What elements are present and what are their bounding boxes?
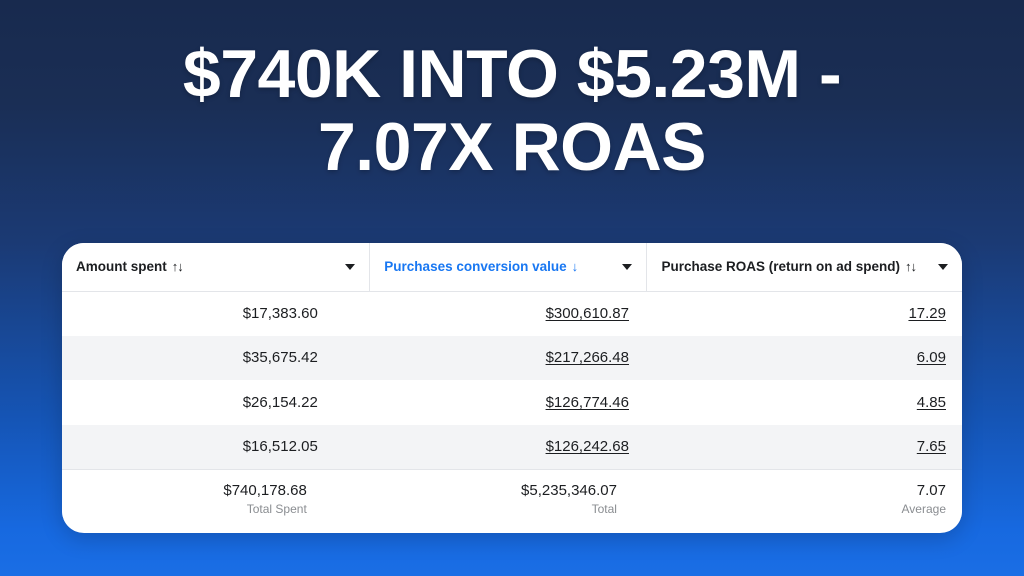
cell-conversion-value[interactable]: $126,242.68	[370, 425, 647, 470]
chevron-down-icon[interactable]	[938, 264, 948, 270]
table-footer: $740,178.68 Total Spent $5,235,346.07 To…	[62, 469, 962, 531]
column-header-purchases-conversion-value-label: Purchases conversion value	[384, 259, 566, 274]
total-conversion-value-value: $5,235,346.07	[384, 481, 617, 501]
slide-canvas: $740K INTO $5.23M - 7.07X ROAS Amount sp…	[0, 0, 1024, 576]
cell-amount-spent: $16,512.05	[62, 425, 370, 470]
cell-amount-spent: $35,675.42	[62, 336, 370, 381]
ads-metrics-table: Amount spent ↑↓ Purchases conversion val…	[62, 243, 962, 531]
cell-conversion-value[interactable]: $126,774.46	[370, 380, 647, 425]
column-header-purchase-roas-label: Purchase ROAS (return on ad spend)	[661, 259, 900, 274]
sort-updown-icon[interactable]: ↑↓	[172, 259, 183, 274]
total-roas-value: 7.07	[661, 481, 946, 501]
cell-amount-spent: $26,154.22	[62, 380, 370, 425]
cell-roas[interactable]: 4.85	[647, 380, 962, 425]
table-row[interactable]: $26,154.22 $126,774.46 4.85	[62, 380, 962, 425]
table-row[interactable]: $17,383.60 $300,610.87 17.29	[62, 291, 962, 336]
metrics-table-card: Amount spent ↑↓ Purchases conversion val…	[62, 243, 962, 533]
cell-roas[interactable]: 17.29	[647, 291, 962, 336]
total-amount-spent-value: $740,178.68	[76, 481, 307, 501]
totals-row: $740,178.68 Total Spent $5,235,346.07 To…	[62, 469, 962, 531]
table-row[interactable]: $35,675.42 $217,266.48 6.09	[62, 336, 962, 381]
total-conversion-value: $5,235,346.07 Total	[370, 469, 647, 531]
cell-conversion-value[interactable]: $300,610.87	[370, 291, 647, 336]
cell-roas[interactable]: 6.09	[647, 336, 962, 381]
total-roas-label: Average	[661, 501, 946, 517]
table-body: $17,383.60 $300,610.87 17.29 $35,675.42 …	[62, 291, 962, 469]
sort-updown-icon[interactable]: ↑↓	[905, 259, 916, 274]
total-amount-spent-label: Total Spent	[76, 501, 307, 517]
column-header-purchases-conversion-value[interactable]: Purchases conversion value ↓	[370, 243, 647, 291]
column-header-amount-spent[interactable]: Amount spent ↑↓	[62, 243, 370, 291]
chevron-down-icon[interactable]	[345, 264, 355, 270]
column-header-amount-spent-label: Amount spent	[76, 259, 167, 274]
sort-descending-icon[interactable]: ↓	[572, 259, 578, 274]
table-header-row: Amount spent ↑↓ Purchases conversion val…	[62, 243, 962, 291]
total-amount-spent: $740,178.68 Total Spent	[62, 469, 370, 531]
cell-roas[interactable]: 7.65	[647, 425, 962, 470]
table-row[interactable]: $16,512.05 $126,242.68 7.65	[62, 425, 962, 470]
total-roas: 7.07 Average	[647, 469, 962, 531]
headline-line-2: 7.07X ROAS	[40, 111, 984, 184]
column-header-purchase-roas[interactable]: Purchase ROAS (return on ad spend) ↑↓	[647, 243, 962, 291]
page-title: $740K INTO $5.23M - 7.07X ROAS	[0, 38, 1024, 185]
cell-conversion-value[interactable]: $217,266.48	[370, 336, 647, 381]
headline-line-1: $740K INTO $5.23M -	[183, 36, 841, 112]
total-conversion-value-label: Total	[384, 501, 617, 517]
table-header: Amount spent ↑↓ Purchases conversion val…	[62, 243, 962, 291]
cell-amount-spent: $17,383.60	[62, 291, 370, 336]
chevron-down-icon[interactable]	[622, 264, 632, 270]
